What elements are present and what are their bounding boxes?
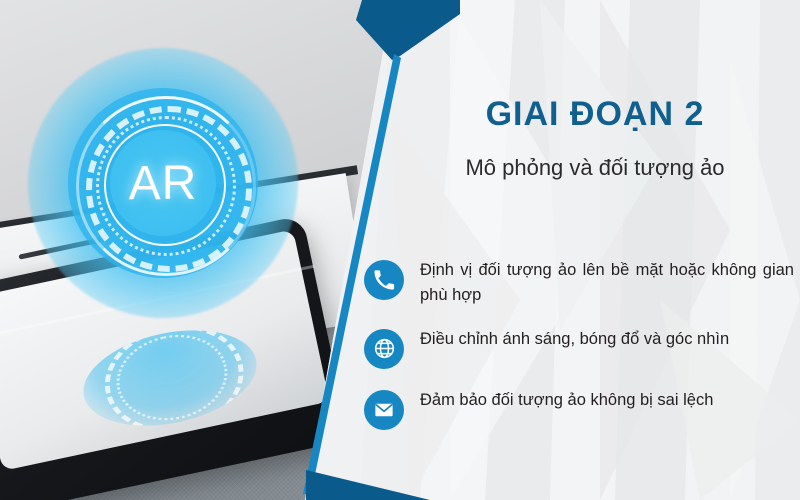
phone-icon — [364, 260, 404, 300]
bullet-list: Định vị đối tượng ảo lên bề mặt hoặc khô… — [364, 258, 794, 449]
globe-icon — [364, 329, 404, 369]
list-item[interactable]: Điều chỉnh ánh sáng, bóng đổ và góc nhìn — [364, 327, 794, 369]
list-item-label: Điều chỉnh ánh sáng, bóng đổ và góc nhìn — [420, 327, 794, 352]
ar-label: AR — [110, 130, 216, 236]
slide-canvas: AR — [0, 0, 800, 500]
list-item[interactable]: Định vị đối tượng ảo lên bề mặt hoặc khô… — [364, 258, 794, 308]
list-item[interactable]: Đảm bảo đối tượng ảo không bị sai lệch — [364, 388, 794, 430]
page-subtitle: Mô phỏng và đối tượng ảo — [400, 155, 790, 181]
envelope-icon — [364, 390, 404, 430]
list-item-label: Đảm bảo đối tượng ảo không bị sai lệch — [420, 388, 794, 413]
page-title: GIAI ĐOẠN 2 — [400, 96, 790, 133]
list-item-label: Định vị đối tượng ảo lên bề mặt hoặc khô… — [420, 258, 794, 308]
